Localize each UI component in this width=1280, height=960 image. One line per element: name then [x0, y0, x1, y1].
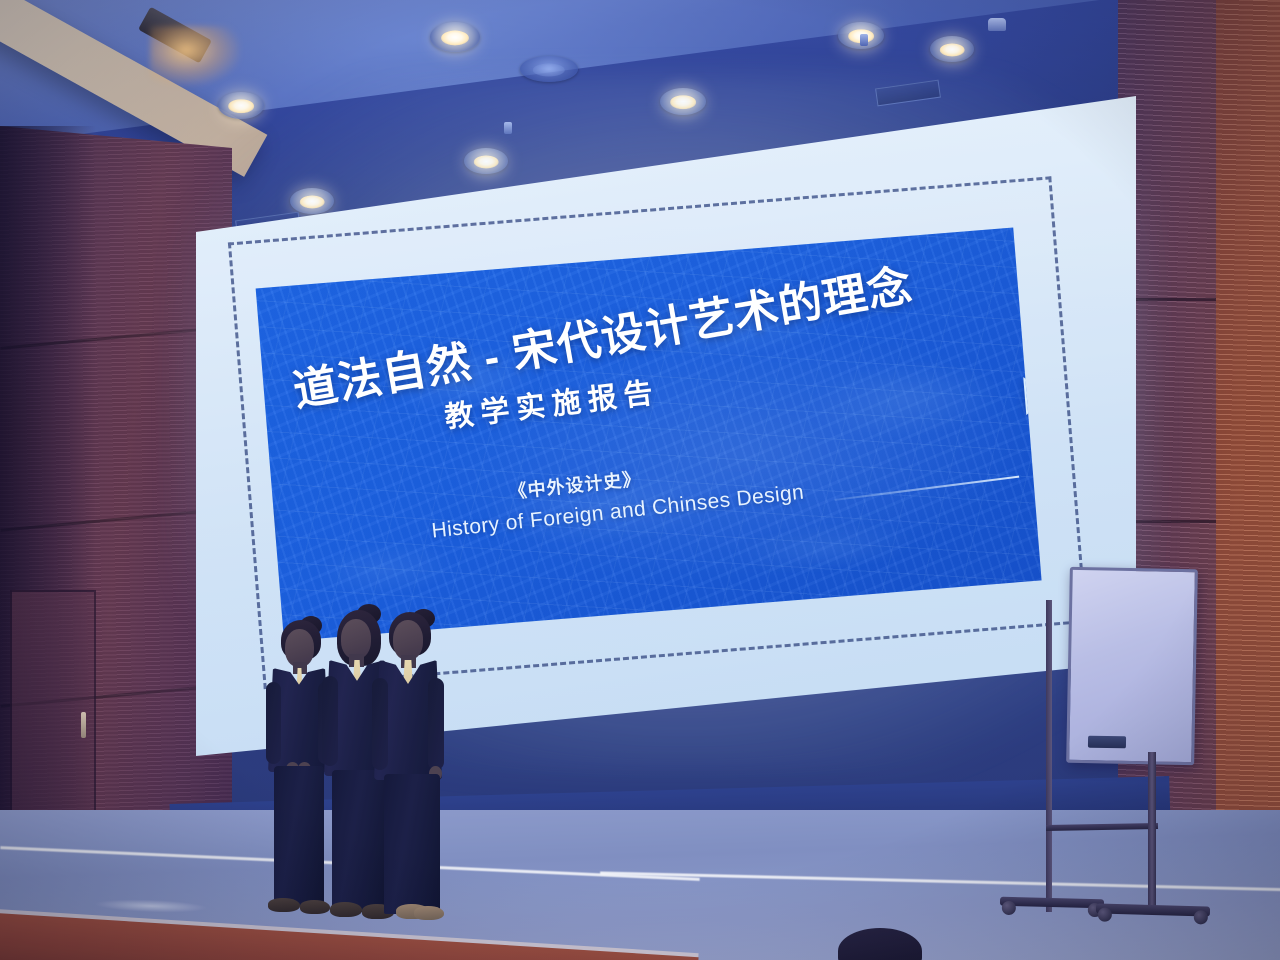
whiteboard-rear-base — [1000, 897, 1104, 909]
smoke-detector-icon — [988, 18, 1006, 31]
shoe — [300, 900, 330, 914]
head — [393, 620, 423, 660]
shoe — [330, 902, 362, 917]
arm-right — [428, 678, 444, 770]
head — [341, 619, 371, 659]
arm-left — [372, 678, 388, 770]
presentation-slide[interactable]: 道法自然 - 宋代设计艺术的理念 教学实施报告 《中外设计史》 History … — [256, 228, 1042, 642]
whiteboard-surface[interactable] — [1066, 567, 1198, 765]
whiteboard-front-post — [1148, 752, 1156, 912]
shoe — [414, 906, 444, 920]
wall-right-warm-slat-panel — [1216, 0, 1280, 900]
ceiling-downlight-icon — [930, 36, 974, 62]
arm-left — [322, 676, 338, 766]
whiteboard-marker-tray[interactable] — [1088, 736, 1126, 749]
trousers — [274, 766, 324, 906]
shoe — [268, 898, 300, 912]
sprinkler-head-icon — [860, 34, 868, 46]
arm-left — [266, 682, 281, 764]
ceiling-downlight-icon — [430, 22, 480, 52]
stage-scene: 道法自然 - 宋代设计艺术的理念 教学实施报告 《中外设计史》 History … — [0, 0, 1280, 960]
trousers — [384, 774, 440, 914]
trousers — [332, 770, 386, 912]
whiteboard-rear-leg — [1046, 600, 1052, 912]
